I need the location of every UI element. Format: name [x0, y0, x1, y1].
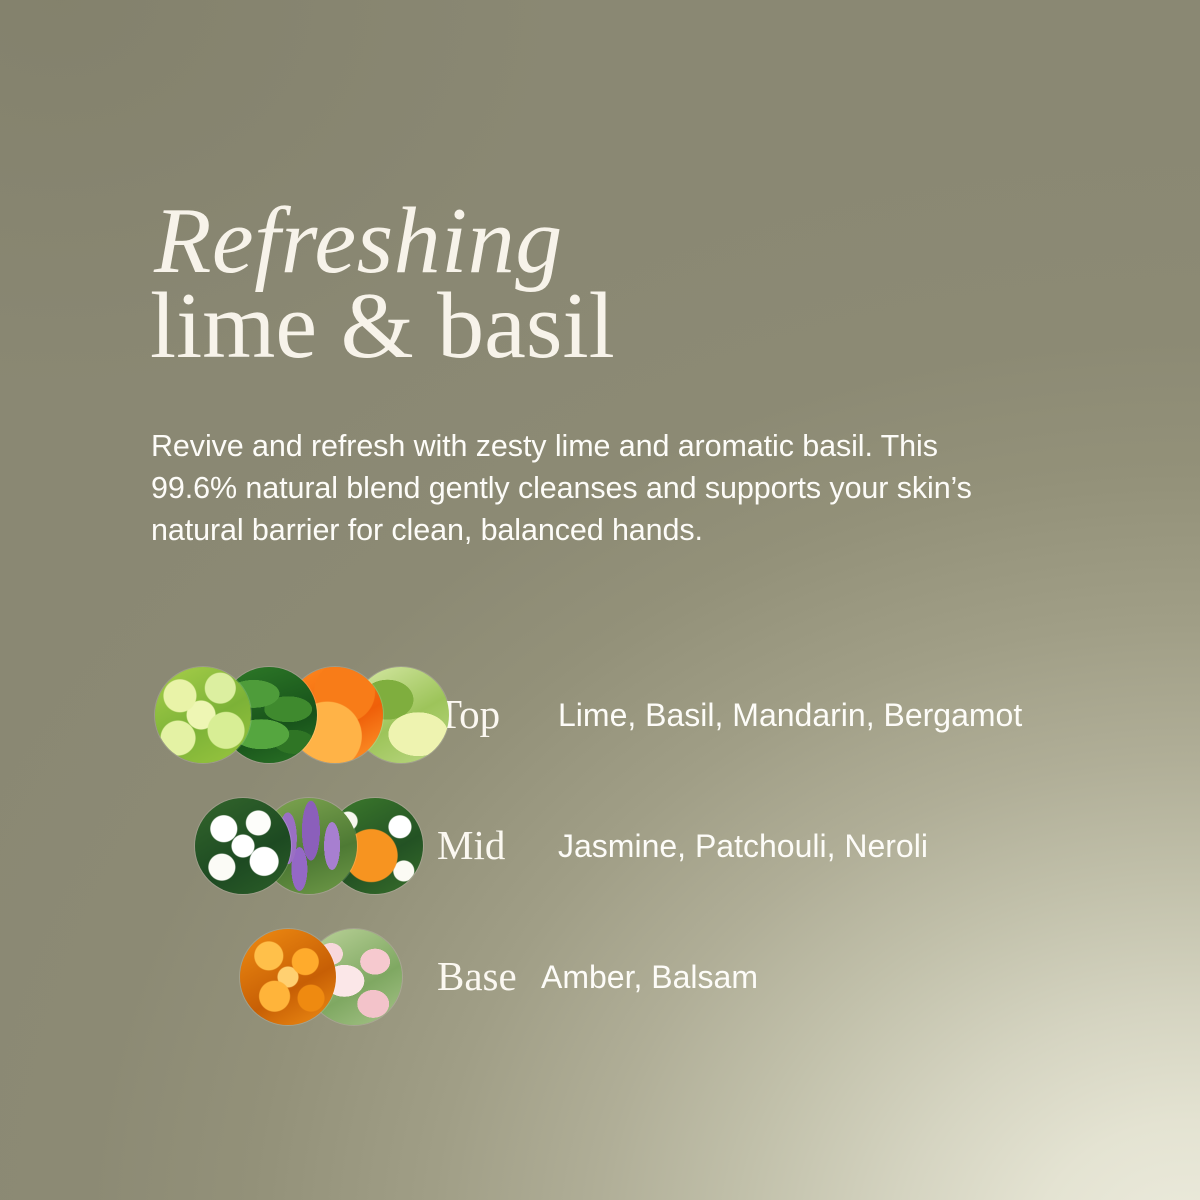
scent-notes-list: Top Lime, Basil, Mandarin, Bergamot Mid … [0, 649, 1200, 1042]
ingredient-thumbnails-mid [195, 798, 435, 894]
scent-note-value-top: Lime, Basil, Mandarin, Bergamot [558, 699, 1022, 731]
scent-note-row-top: Top Lime, Basil, Mandarin, Bergamot [0, 649, 1200, 780]
scent-note-value-mid: Jasmine, Patchouli, Neroli [558, 830, 928, 862]
ingredient-thumb-lime [155, 667, 251, 763]
product-description: Revive and refresh with zesty lime and a… [151, 425, 1031, 551]
scent-note-label-base: Base [437, 956, 541, 997]
scent-note-label-top: Top [437, 694, 558, 735]
scent-note-value-base: Amber, Balsam [541, 961, 758, 993]
scent-note-row-mid: Mid Jasmine, Patchouli, Neroli [0, 780, 1200, 911]
ingredient-thumb-amber [240, 929, 336, 1025]
ingredient-thumb-jasmine [195, 798, 291, 894]
scent-note-row-base: Base Amber, Balsam [0, 911, 1200, 1042]
ingredient-thumbnails-top [155, 667, 435, 763]
product-scent-card: Refreshing lime & basil Revive and refre… [0, 0, 1200, 1200]
headline-line-2: lime & basil [150, 281, 1050, 372]
ingredient-thumbnails-base [240, 929, 435, 1025]
scent-note-label-mid: Mid [437, 825, 558, 866]
page-title: Refreshing lime & basil [150, 196, 1050, 372]
